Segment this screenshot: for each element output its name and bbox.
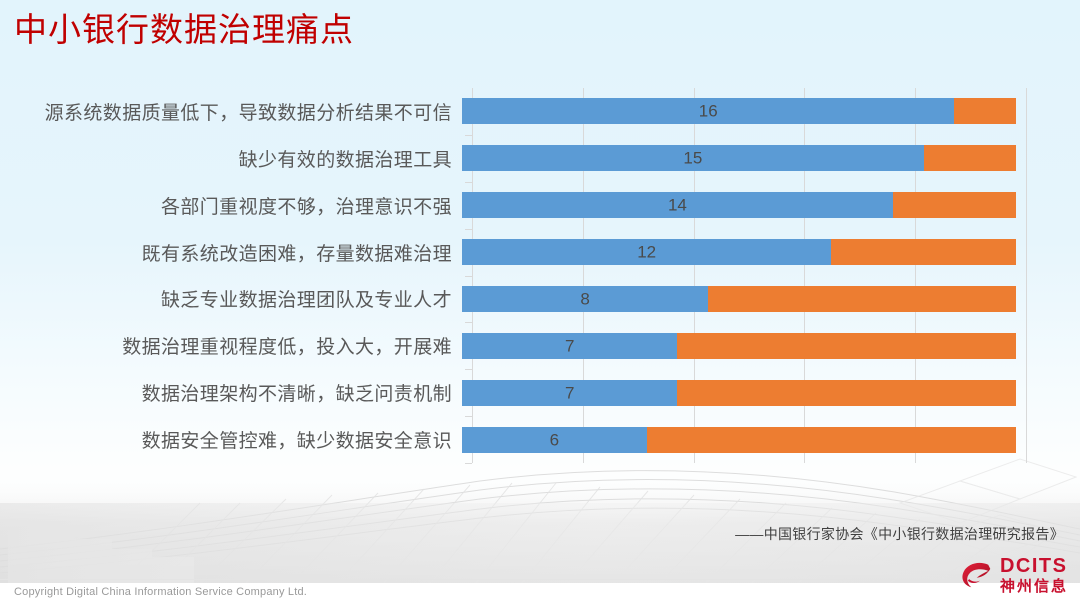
bar-segment-remainder[interactable] xyxy=(677,380,1016,406)
chart-row: 各部门重视度不够，治理意识不强14 xyxy=(0,182,1050,229)
bar-segment-remainder[interactable] xyxy=(708,286,1016,312)
bar-segment-remainder[interactable] xyxy=(677,333,1016,359)
bar-value-label: 6 xyxy=(462,431,647,448)
stacked-bar[interactable]: 14 xyxy=(462,192,1016,218)
bar-segment-remainder[interactable] xyxy=(954,98,1016,124)
stacked-bar[interactable]: 7 xyxy=(462,380,1016,406)
bar-track: 7 xyxy=(462,369,1050,416)
category-label: 数据治理架构不清晰，缺乏问责机制 xyxy=(0,379,462,406)
bar-segment-remainder[interactable] xyxy=(647,427,1016,453)
chart-row: 缺少有效的数据治理工具15 xyxy=(0,135,1050,182)
bar-segment-primary[interactable]: 12 xyxy=(462,239,831,265)
bar-segment-remainder[interactable] xyxy=(893,192,1016,218)
bar-segment-primary[interactable]: 16 xyxy=(462,98,954,124)
bar-segment-primary[interactable]: 15 xyxy=(462,145,924,171)
bar-track: 7 xyxy=(462,322,1050,369)
stacked-bar[interactable]: 8 xyxy=(462,286,1016,312)
bar-track: 15 xyxy=(462,135,1050,182)
axis-tick xyxy=(465,416,472,417)
axis-tick xyxy=(465,276,472,277)
stacked-bar[interactable]: 12 xyxy=(462,239,1016,265)
axis-tick xyxy=(465,463,472,464)
stacked-bar[interactable]: 16 xyxy=(462,98,1016,124)
bar-chart: 源系统数据质量低下，导致数据分析结果不可信16缺少有效的数据治理工具15各部门重… xyxy=(0,88,1050,463)
bar-track: 8 xyxy=(462,276,1050,323)
chart-rows: 源系统数据质量低下，导致数据分析结果不可信16缺少有效的数据治理工具15各部门重… xyxy=(0,88,1050,463)
bar-value-label: 7 xyxy=(462,337,677,354)
chart-row: 数据治理架构不清晰，缺乏问责机制7 xyxy=(0,369,1050,416)
bar-segment-remainder[interactable] xyxy=(924,145,1016,171)
axis-tick xyxy=(465,182,472,183)
slide-title: 中小银行数据治理痛点 xyxy=(14,8,354,52)
bar-value-label: 8 xyxy=(462,290,708,307)
source-attribution: ——中国银行家协会《中小银行数据治理研究报告》 xyxy=(735,524,1064,544)
copyright-text: Copyright Digital China Information Serv… xyxy=(14,586,307,598)
axis-tick xyxy=(465,369,472,370)
category-label: 数据治理重视程度低，投入大，开展难 xyxy=(0,332,462,359)
category-label: 各部门重视度不够，治理意识不强 xyxy=(0,192,462,219)
bar-segment-primary[interactable]: 7 xyxy=(462,380,677,406)
bar-track: 16 xyxy=(462,88,1050,135)
chart-row: 数据治理重视程度低，投入大，开展难7 xyxy=(0,322,1050,369)
dcits-swoosh-icon xyxy=(959,558,993,592)
chart-row: 既有系统改造困难，存量数据难治理12 xyxy=(0,229,1050,276)
dcits-logo-en: DCITS xyxy=(1000,556,1068,576)
bar-segment-remainder[interactable] xyxy=(831,239,1016,265)
axis-tick xyxy=(465,322,472,323)
category-label: 缺少有效的数据治理工具 xyxy=(0,145,462,172)
stacked-bar[interactable]: 15 xyxy=(462,145,1016,171)
chart-row: 缺乏专业数据治理团队及专业人才8 xyxy=(0,276,1050,323)
bar-value-label: 16 xyxy=(462,103,954,120)
dcits-logo-text: DCITS 神州信息 xyxy=(1000,556,1068,594)
category-label: 缺乏专业数据治理团队及专业人才 xyxy=(0,285,462,312)
dcits-logo: DCITS 神州信息 xyxy=(959,555,1068,595)
axis-tick xyxy=(465,229,472,230)
dcits-logo-cn: 神州信息 xyxy=(1000,579,1068,594)
chart-row: 源系统数据质量低下，导致数据分析结果不可信16 xyxy=(0,88,1050,135)
bar-segment-primary[interactable]: 7 xyxy=(462,333,677,359)
stacked-bar[interactable]: 6 xyxy=(462,427,1016,453)
bar-value-label: 7 xyxy=(462,384,677,401)
bar-value-label: 12 xyxy=(462,244,831,261)
bar-segment-primary[interactable]: 6 xyxy=(462,427,647,453)
chart-row: 数据安全管控难，缺少数据安全意识6 xyxy=(0,416,1050,463)
slide-canvas: 中小银行数据治理痛点 源系统数据质量低下，导致数据分析结果不可信16缺少有效的数… xyxy=(0,0,1080,601)
bar-segment-primary[interactable]: 8 xyxy=(462,286,708,312)
category-label: 既有系统改造困难，存量数据难治理 xyxy=(0,239,462,266)
bar-segment-primary[interactable]: 14 xyxy=(462,192,893,218)
bar-value-label: 15 xyxy=(462,150,924,167)
stacked-bar[interactable]: 7 xyxy=(462,333,1016,359)
bar-value-label: 14 xyxy=(462,197,893,214)
category-label: 数据安全管控难，缺少数据安全意识 xyxy=(0,426,462,453)
bar-track: 12 xyxy=(462,229,1050,276)
bar-track: 14 xyxy=(462,182,1050,229)
axis-tick xyxy=(465,135,472,136)
category-label: 源系统数据质量低下，导致数据分析结果不可信 xyxy=(0,98,462,125)
footer-divider xyxy=(0,579,1080,580)
bar-track: 6 xyxy=(462,416,1050,463)
